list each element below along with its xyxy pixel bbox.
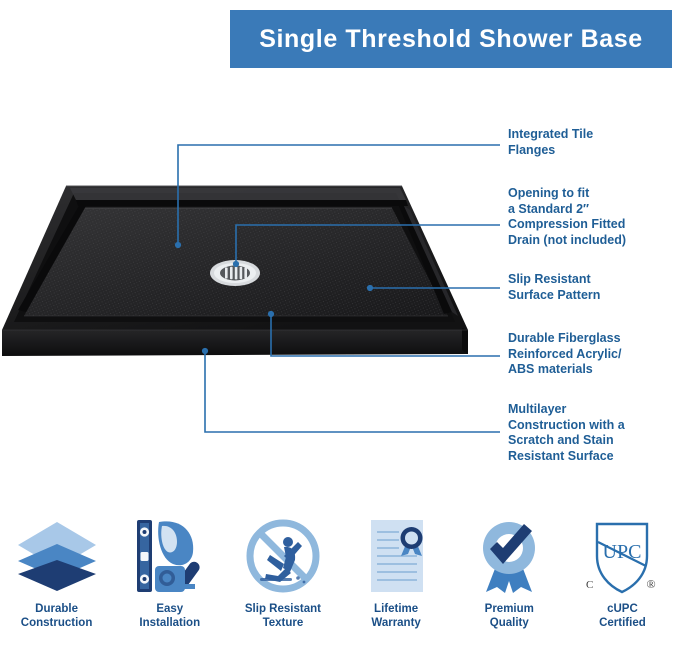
certificate-icon <box>353 512 439 600</box>
feature-durable-construction: Durable Construction <box>0 512 113 647</box>
feature-label: cUPC Certified <box>599 602 646 630</box>
feature-lifetime-warranty: Lifetime Warranty <box>340 512 453 647</box>
feature-label: Slip Resistant Texture <box>245 602 321 630</box>
feature-label: Easy Installation <box>139 602 200 630</box>
feature-badge-row: Durable Construction Easy Installati <box>0 512 679 647</box>
shower-base-illustration <box>0 170 470 395</box>
product-image <box>0 170 470 395</box>
layers-icon <box>14 512 100 600</box>
drain-cover <box>210 260 260 286</box>
callout-durable-materials: Durable Fiberglass Reinforced Acrylic/ A… <box>508 331 621 378</box>
feature-label: Durable Construction <box>21 602 93 630</box>
feature-slip-resistant-texture: Slip Resistant Texture <box>226 512 339 647</box>
award-ribbon-icon <box>466 512 552 600</box>
trowel-level-icon <box>127 512 213 600</box>
feature-label: Premium Quality <box>485 602 534 630</box>
feature-premium-quality: Premium Quality <box>453 512 566 647</box>
upc-left-mark: C <box>586 579 593 591</box>
callout-drain-opening: Opening to fit a Standard 2″ Compression… <box>508 186 626 248</box>
feature-cupc-certified: UPC C ® cUPC Certified <box>566 512 679 647</box>
callout-integrated-tile-flanges: Integrated Tile Flanges <box>508 127 593 158</box>
page-title-banner: Single Threshold Shower Base <box>230 10 672 68</box>
no-slip-icon <box>240 512 326 600</box>
upc-right-mark: ® <box>647 577 656 591</box>
upc-text: UPC <box>603 541 642 563</box>
page-title: Single Threshold Shower Base <box>259 25 643 54</box>
callout-multilayer-construction: Multilayer Construction with a Scratch a… <box>508 402 625 464</box>
callout-slip-resistant-surface: Slip Resistant Surface Pattern <box>508 272 600 303</box>
feature-easy-installation: Easy Installation <box>113 512 226 647</box>
upc-shield-icon: UPC C ® <box>579 512 665 600</box>
feature-label: Lifetime Warranty <box>371 602 420 630</box>
